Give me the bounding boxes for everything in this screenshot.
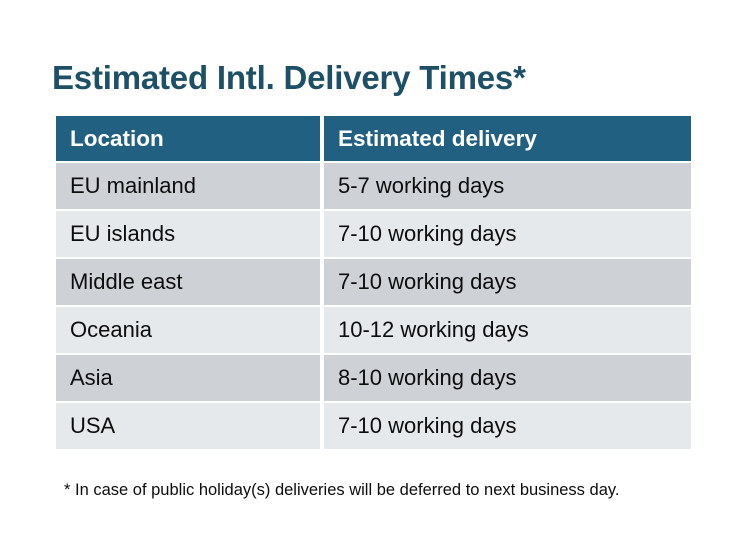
cell-location: EU islands [56,211,320,257]
table-row: EU islands 7-10 working days [56,211,691,257]
cell-location: USA [56,403,320,449]
page-title: Estimated Intl. Delivery Times* [52,58,526,98]
table-row: Asia 8-10 working days [56,355,691,401]
cell-estimated-delivery: 7-10 working days [324,211,691,257]
cell-estimated-delivery: 10-12 working days [324,307,691,353]
column-header-estimated-delivery: Estimated delivery [324,116,691,161]
footnote: * In case of public holiday(s) deliverie… [64,479,619,501]
table-row: Middle east 7-10 working days [56,259,691,305]
table-row: EU mainland 5-7 working days [56,163,691,209]
table-header: Location Estimated delivery [56,116,691,161]
delivery-times-page: Estimated Intl. Delivery Times* Location… [0,0,745,536]
cell-estimated-delivery: 7-10 working days [324,403,691,449]
cell-location: Oceania [56,307,320,353]
table-row: USA 7-10 working days [56,403,691,449]
cell-estimated-delivery: 7-10 working days [324,259,691,305]
cell-estimated-delivery: 5-7 working days [324,163,691,209]
table-header-row: Location Estimated delivery [56,116,691,161]
table-body: EU mainland 5-7 working days EU islands … [56,163,691,449]
cell-location: Middle east [56,259,320,305]
cell-location: Asia [56,355,320,401]
cell-location: EU mainland [56,163,320,209]
delivery-times-table: Location Estimated delivery EU mainland … [52,114,695,451]
cell-estimated-delivery: 8-10 working days [324,355,691,401]
table-row: Oceania 10-12 working days [56,307,691,353]
column-header-location: Location [56,116,320,161]
